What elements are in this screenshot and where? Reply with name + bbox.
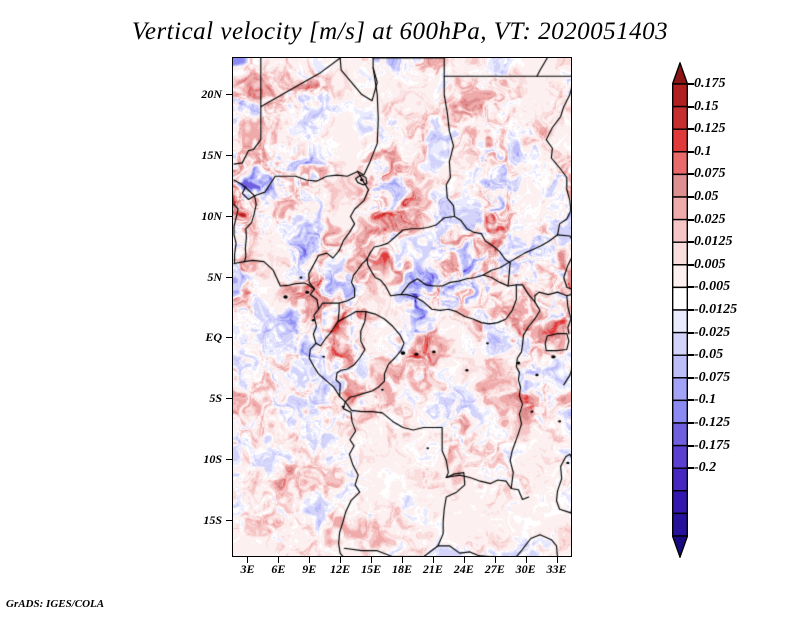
y-axis-label: 10S <box>203 452 222 467</box>
colorbar-tick <box>688 219 694 221</box>
colorbar-tick <box>688 377 694 379</box>
y-axis-tick <box>226 277 232 278</box>
footer-credit: GrADS: IGES/COLA <box>6 598 104 610</box>
colorbar-tick-label: 0.075 <box>694 166 726 182</box>
colorbar <box>672 62 688 558</box>
colorbar-tick-label: 0.125 <box>694 121 726 137</box>
colorbar-tick <box>688 467 694 469</box>
colorbar-tick <box>688 445 694 447</box>
colorbar-tick-label: 0.025 <box>694 212 726 228</box>
colorbar-tick-label: 0.1 <box>694 144 712 160</box>
y-axis-label: 15N <box>201 148 222 163</box>
y-axis-label: EQ <box>205 330 222 345</box>
colorbar-tick-label: -0.175 <box>694 438 730 454</box>
map-plot-area <box>232 57 572 557</box>
y-axis-label: 10N <box>201 209 222 224</box>
y-axis-tick <box>226 337 232 338</box>
colorbar-tick <box>688 309 694 311</box>
colorbar-tick-label: -0.025 <box>694 325 730 341</box>
colorbar-tick <box>688 286 694 288</box>
y-axis-label: 5S <box>209 391 222 406</box>
colorbar-tick <box>688 196 694 198</box>
y-axis-tick <box>226 155 232 156</box>
colorbar-tick-label: -0.075 <box>694 370 730 386</box>
colorbar-tick <box>688 173 694 175</box>
y-axis-label: 5N <box>207 270 222 285</box>
colorbar-tick-label: 0.175 <box>694 76 726 92</box>
colorbar-tick-label: -0.1 <box>694 392 716 408</box>
colorbar-tick-label: -0.05 <box>694 347 723 363</box>
colorbar-tick-label: -0.005 <box>694 279 730 295</box>
country-borders-overlay <box>233 58 572 557</box>
colorbar-tick <box>688 241 694 243</box>
y-axis-tick <box>226 398 232 399</box>
colorbar-tick-label: -0.2 <box>694 460 716 476</box>
colorbar-tick <box>688 128 694 130</box>
x-axis-label: 33E <box>537 562 577 577</box>
colorbar-tick-label: 0.05 <box>694 189 719 205</box>
colorbar-tick <box>688 151 694 153</box>
colorbar-tick-label: -0.125 <box>694 415 730 431</box>
page-title: Vertical velocity [m/s] at 600hPa, VT: 2… <box>0 18 800 46</box>
colorbar-tick <box>688 83 694 85</box>
colorbar-tick <box>688 106 694 108</box>
colorbar-tick <box>688 354 694 356</box>
y-axis-tick <box>226 216 232 217</box>
y-axis-tick <box>226 520 232 521</box>
colorbar-tick-label: 0.0125 <box>694 234 733 250</box>
colorbar-tick <box>688 422 694 424</box>
y-axis-label: 15S <box>203 513 222 528</box>
y-axis-tick <box>226 94 232 95</box>
y-axis-label: 20N <box>201 87 222 102</box>
colorbar-tick <box>688 332 694 334</box>
colorbar-tick-label: 0.15 <box>694 99 719 115</box>
colorbar-swatches <box>672 62 688 558</box>
y-axis-tick <box>226 459 232 460</box>
colorbar-tick-label: -0.0125 <box>694 302 737 318</box>
colorbar-tick <box>688 399 694 401</box>
colorbar-tick-label: 0.005 <box>694 257 726 273</box>
colorbar-tick <box>688 264 694 266</box>
